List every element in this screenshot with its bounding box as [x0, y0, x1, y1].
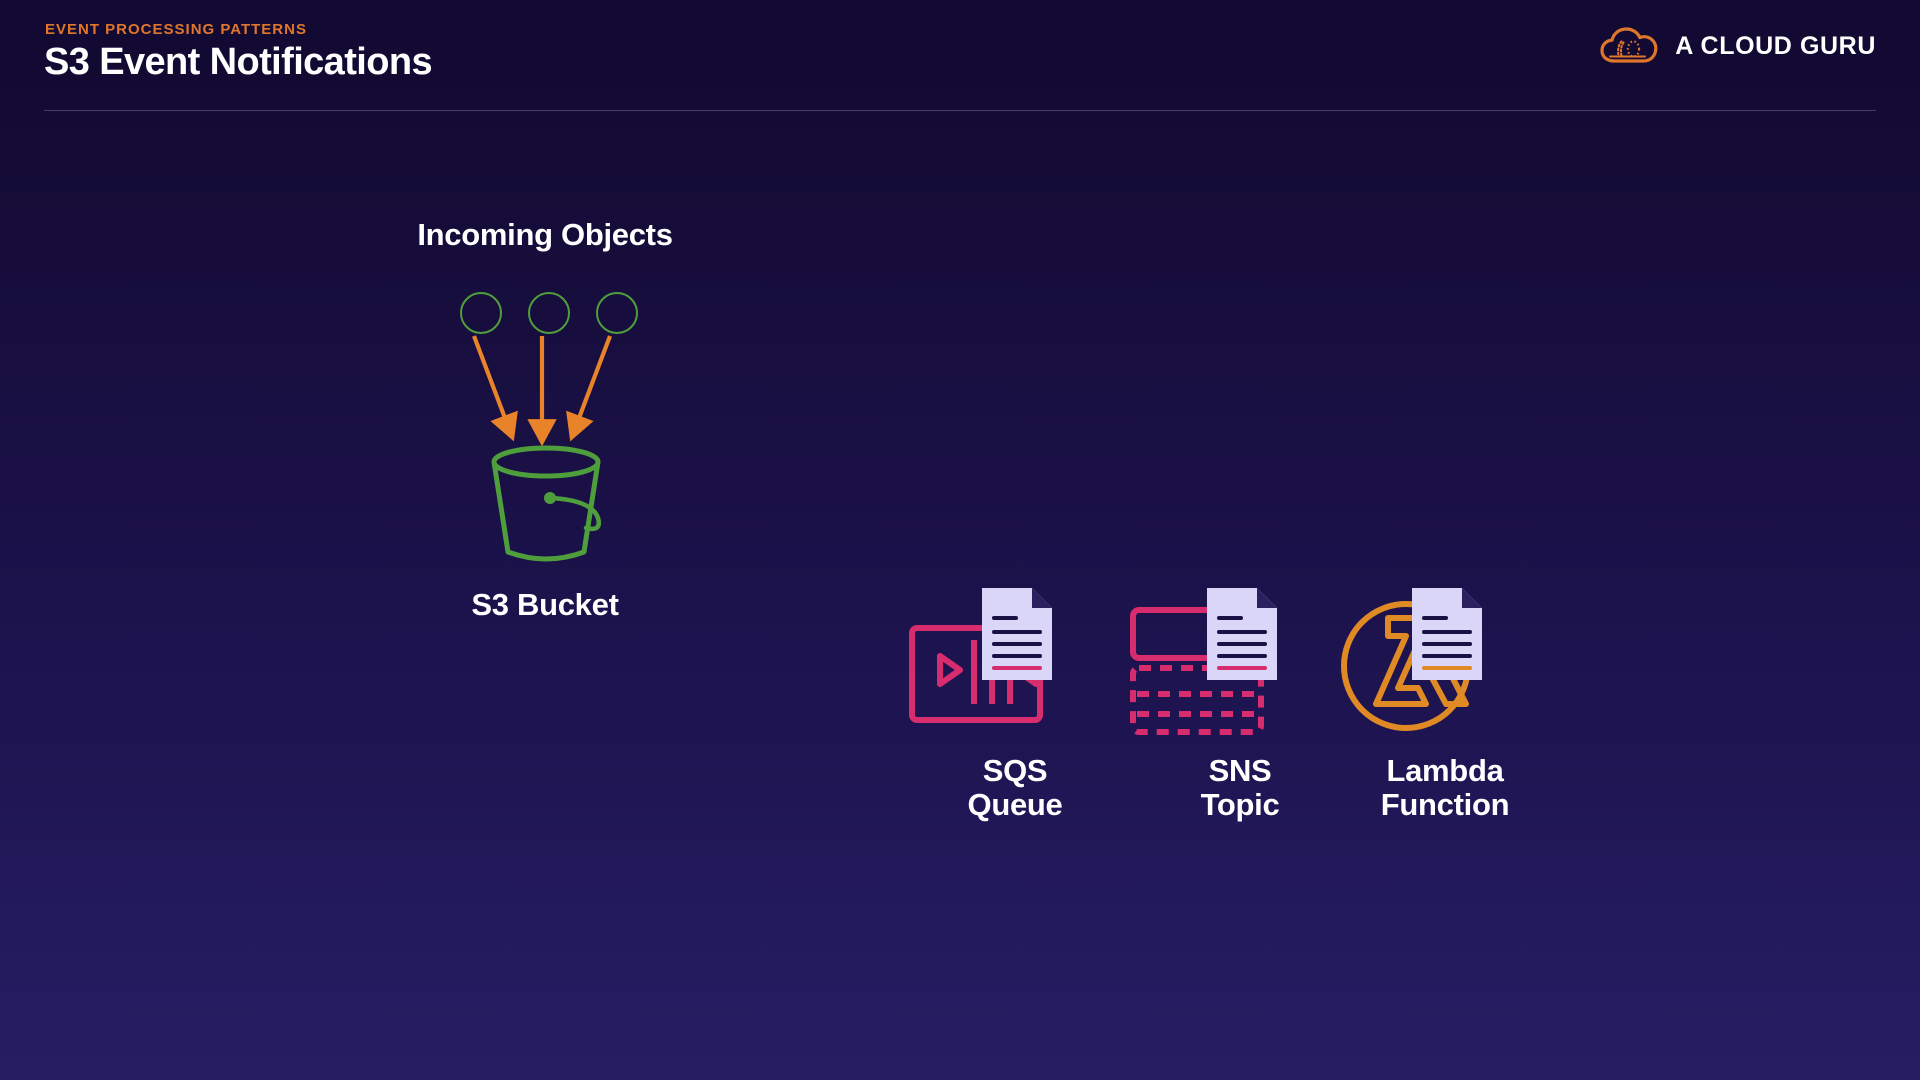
s3-bucket-icon — [480, 440, 620, 575]
sns-topic-label: SNS Topic — [1125, 754, 1355, 822]
diagram-stage: Incoming Objects S3 Bucket — [0, 0, 1920, 1080]
s3-bucket-label: S3 Bucket — [320, 588, 770, 621]
sns-label-line1: SNS — [1209, 753, 1272, 788]
sqs-label-line1: SQS — [983, 753, 1048, 788]
sns-label-line2: Topic — [1201, 787, 1280, 822]
sns-topic-node: SNS Topic — [1125, 570, 1355, 750]
lambda-function-node: Lambda Function — [1330, 570, 1560, 750]
sqs-label-line2: Queue — [968, 787, 1063, 822]
circle-object-icon — [596, 292, 638, 334]
incoming-objects-title: Incoming Objects — [310, 218, 780, 251]
circle-object-icon — [460, 292, 502, 334]
lambda-label-line1: Lambda — [1386, 753, 1503, 788]
circle-object-icon — [528, 292, 570, 334]
lambda-label-line2: Function — [1381, 787, 1509, 822]
sqs-queue-node: SQS Queue — [900, 570, 1130, 750]
sqs-queue-label: SQS Queue — [900, 754, 1130, 822]
arrow-down-icon-group — [450, 330, 650, 455]
lambda-function-label: Lambda Function — [1330, 754, 1560, 822]
